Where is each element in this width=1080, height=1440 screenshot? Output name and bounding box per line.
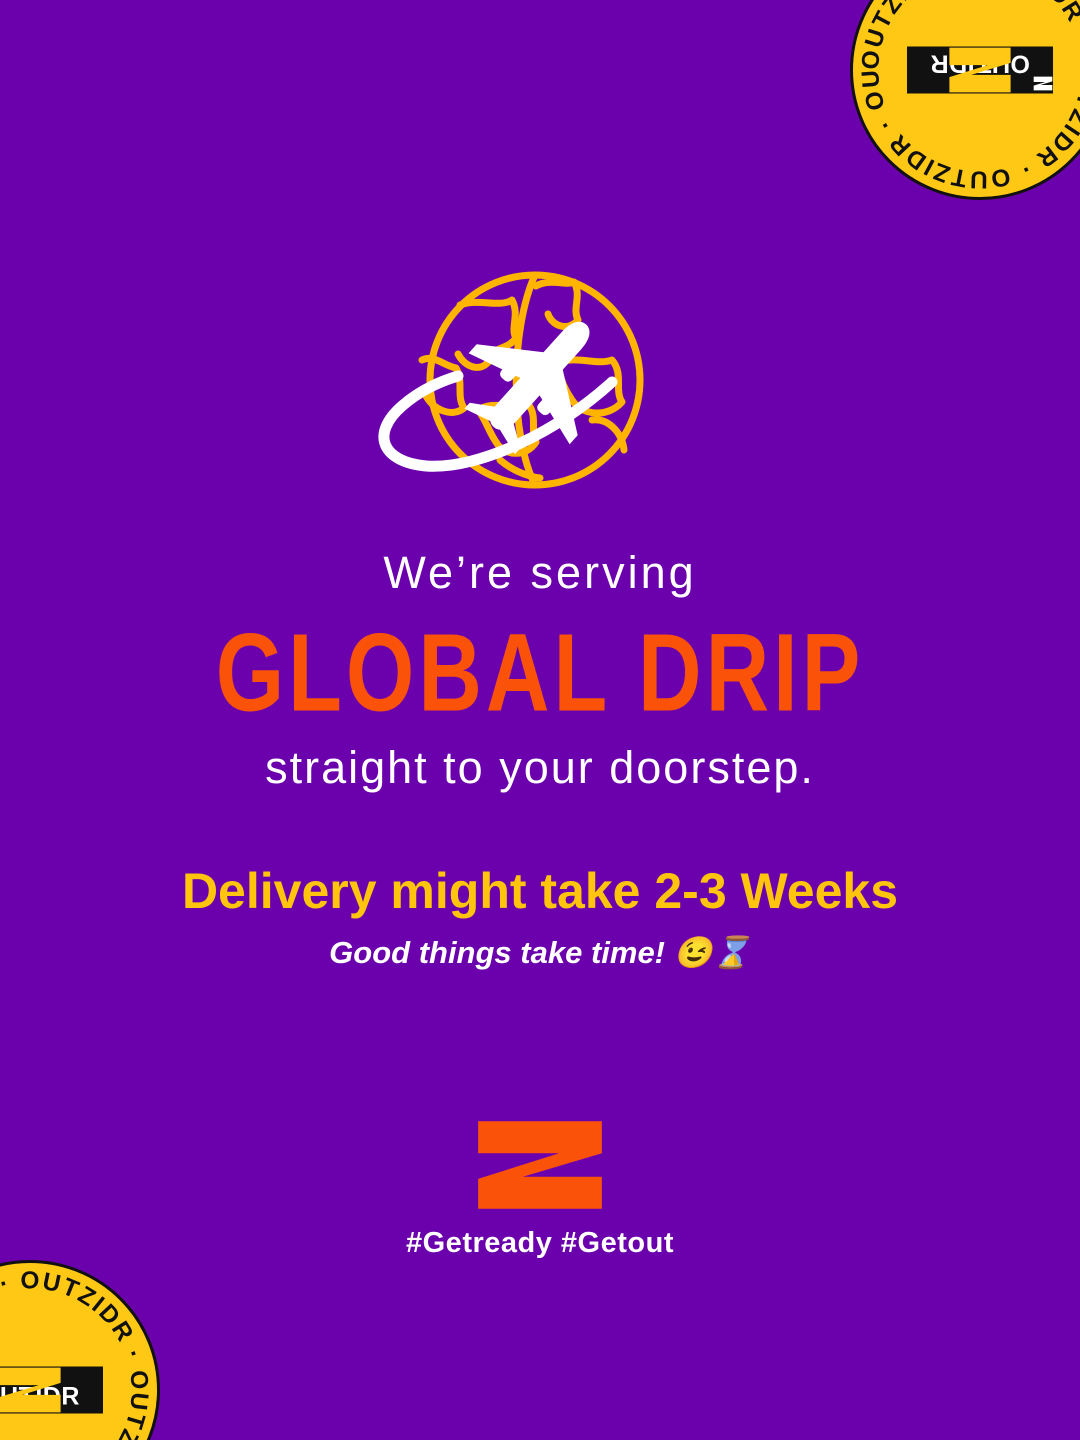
headline-main-line: GLOBAL DRIP (0, 604, 1080, 742)
badge-ring-text-top-right: OUTZIDR · OUTZIDR · OUTZIDR · OUTZIDR · … (853, 0, 1080, 197)
outzidr-badge-bottom-left: OUTZIDR · OUTZIDR · OUTZIDR · OUTZIDR · … (0, 1260, 160, 1440)
svg-text:OUTZIDR · OUTZIDR · OUTZIDR ·: OUTZIDR · OUTZIDR · OUTZIDR · OUTZIDR · … (853, 0, 1080, 193)
footer-block: #Getready #Getout (0, 1118, 1080, 1260)
z-logo-icon (0, 1367, 103, 1414)
delivery-subtext: Good things take time! 😉⌛ (0, 934, 1080, 971)
globe-plane-illustration (360, 270, 720, 510)
badge-core-bottom-left: OUT IDR (0, 1367, 103, 1414)
outzidr-z-logo (476, 1118, 604, 1212)
delivery-notice: Delivery might take 2-3 Weeks (0, 862, 1080, 920)
outzidr-badge-top-right: OUTZIDR · OUTZIDR · OUTZIDR · OUTZIDR · … (850, 0, 1080, 200)
z-logo-icon (476, 1118, 604, 1212)
headline-block: We’re serving GLOBAL DRIP straight to yo… (0, 548, 1080, 971)
hashtags-line: #Getready #Getout (0, 1227, 1080, 1260)
badge-z-logo-bottom-left (0, 1367, 103, 1383)
headline-bottom-line: straight to your doorstep. (0, 742, 1080, 794)
badge-z-logo-top-right (907, 78, 1053, 94)
badge-core-top-right: OUT IDR (907, 47, 1053, 94)
poster-canvas: OUTZIDR · OUTZIDR · OUTZIDR · OUTZIDR · … (0, 0, 1080, 1440)
z-logo-icon (907, 47, 1053, 94)
mini-z-logo-icon (1033, 74, 1053, 94)
airplane-icon (439, 279, 636, 477)
hero-svg (360, 270, 720, 510)
badge-ring-label: OUTZIDR · OUTZIDR · OUTZIDR · OUTZIDR · … (853, 0, 1080, 193)
headline-top-line: We’re serving (0, 548, 1080, 598)
